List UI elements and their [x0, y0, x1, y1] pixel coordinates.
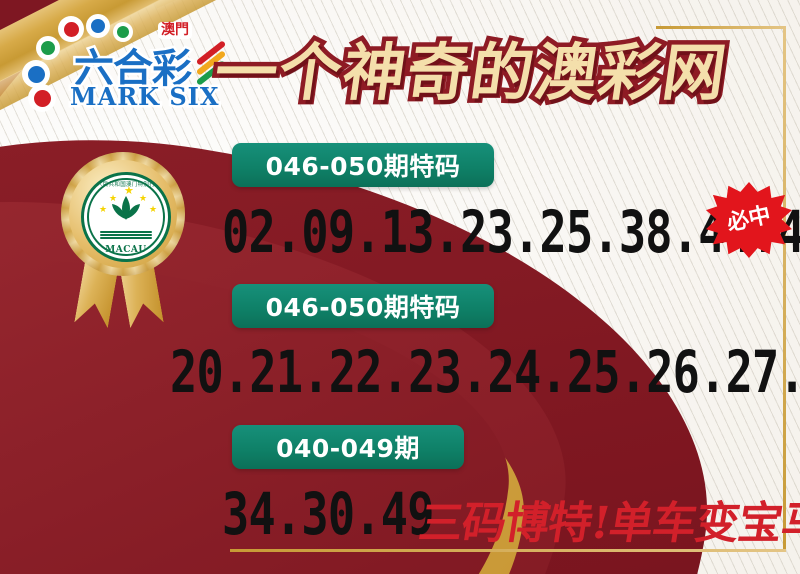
logo-dot-2: [86, 14, 110, 38]
lottery-promo-poster: 六合彩 MARK SIX 澳門 一个神奇的澳彩网 中华人民共和国澳门特别行政区 …: [0, 0, 800, 574]
promo-tagline: 三码博特!单车变宝马!: [415, 487, 800, 551]
logo-dot-6: [28, 84, 56, 112]
gold-frame-right: [783, 26, 786, 552]
logo-region-tag: 澳門: [158, 22, 192, 39]
numbers-row-3: 34.30.49: [222, 480, 434, 548]
macau-seal-medal: 中华人民共和国澳门特别行政区 ★ ★ ★ ★ ★ MACAU: [48, 150, 198, 335]
brand-logo[interactable]: 六合彩 MARK SIX 澳門: [18, 14, 218, 114]
emblem-macau-label: MACAU: [84, 245, 168, 255]
numbers-row-2: 20.21.22.23.24.25.26.27.28.29: [170, 338, 800, 406]
page-title: 一个神奇的澳彩网: [210, 22, 735, 112]
macau-emblem-icon: 中华人民共和国澳门特别行政区 ★ ★ ★ ★ ★ MACAU: [81, 172, 171, 262]
emblem-waves: [100, 231, 152, 239]
logo-dot-4: [36, 36, 60, 60]
period-label-3[interactable]: 040-049期: [232, 425, 464, 469]
must-hit-badge-label: 必中: [725, 205, 773, 236]
period-label-2[interactable]: 046-050期特码: [232, 284, 494, 328]
period-label-1[interactable]: 046-050期特码: [232, 143, 494, 187]
emblem-lotus-icon: [103, 195, 149, 223]
